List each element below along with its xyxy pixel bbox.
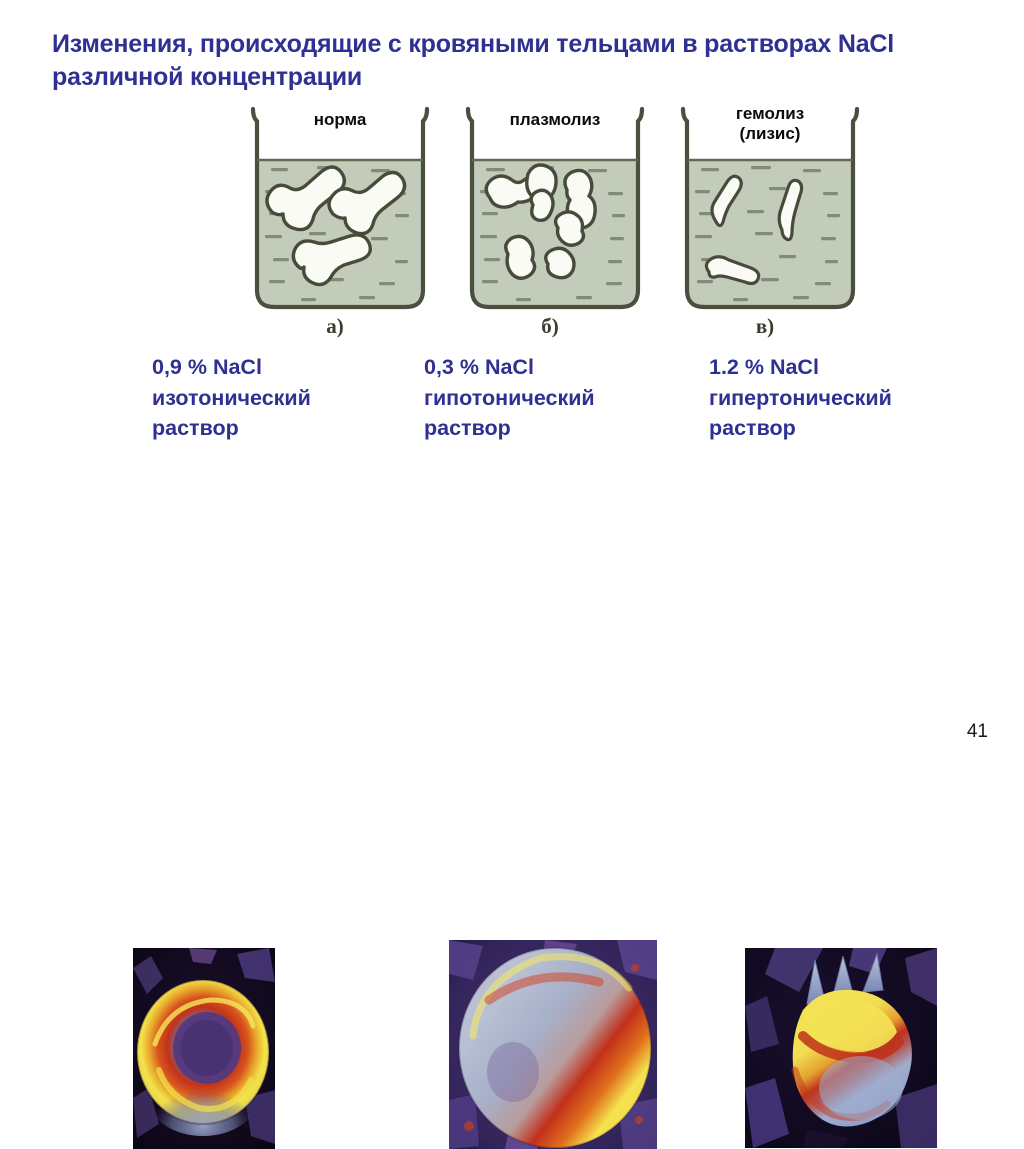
beaker-graphic-gemoliz: гемолиз (лизис): [675, 102, 865, 317]
beaker-svg-norma: [245, 102, 435, 317]
panel-letter-b: б): [455, 314, 645, 339]
page-title: Изменения, происходящие с кровяными тель…: [52, 28, 982, 94]
beaker-panel-norma: норма а): [240, 102, 440, 347]
beaker-svg-plazmoliz: [460, 102, 650, 317]
panel-letter-v: в): [670, 314, 860, 339]
beaker-panel-plazmoliz: плазмолиз б): [455, 102, 655, 347]
beaker-graphic-plazmoliz: плазмолиз: [460, 102, 650, 317]
normal-erythrocyte-svg: [133, 948, 275, 1149]
normal-erythrocyte-micrograph: [133, 948, 275, 1149]
concentration-value-isotonic: 0,9 % NaCl: [152, 352, 432, 383]
concentration-solution-hypotonic: раствор: [424, 413, 704, 444]
swollen-erythrocyte-svg: [449, 940, 657, 1149]
beaker-panel-gemoliz: гемолиз (лизис) в): [670, 102, 870, 347]
concentration-row: 0,9 % NaCl изотонический раствор 0,3 % N…: [0, 352, 1024, 457]
concentration-block-hypertonic: 1.2 % NaCl гипертонический раствор: [709, 352, 989, 444]
page-number: 41: [967, 721, 988, 743]
concentration-solution-hypertonic: раствор: [709, 413, 989, 444]
crenated-erythrocyte-svg: [745, 948, 937, 1148]
concentration-block-hypotonic: 0,3 % NaCl гипотонический раствор: [424, 352, 704, 444]
concentration-block-isotonic: 0,9 % NaCl изотонический раствор: [152, 352, 432, 444]
crenated-erythrocyte-micrograph: [745, 948, 937, 1148]
concentration-value-hypertonic: 1.2 % NaCl: [709, 352, 989, 383]
concentration-value-hypotonic: 0,3 % NaCl: [424, 352, 704, 383]
swollen-erythrocyte-micrograph: [449, 940, 657, 1149]
micrograph-row: [0, 470, 1024, 685]
concentration-type-hypotonic: гипотонический: [424, 383, 704, 414]
panel-letter-a: а): [240, 314, 430, 339]
beaker-svg-gemoliz: [675, 102, 865, 317]
concentration-type-isotonic: изотонический: [152, 383, 432, 414]
beaker-graphic-norma: норма: [245, 102, 435, 317]
concentration-type-hypertonic: гипертонический: [709, 383, 989, 414]
beaker-row: норма а): [0, 102, 1024, 347]
concentration-solution-isotonic: раствор: [152, 413, 432, 444]
